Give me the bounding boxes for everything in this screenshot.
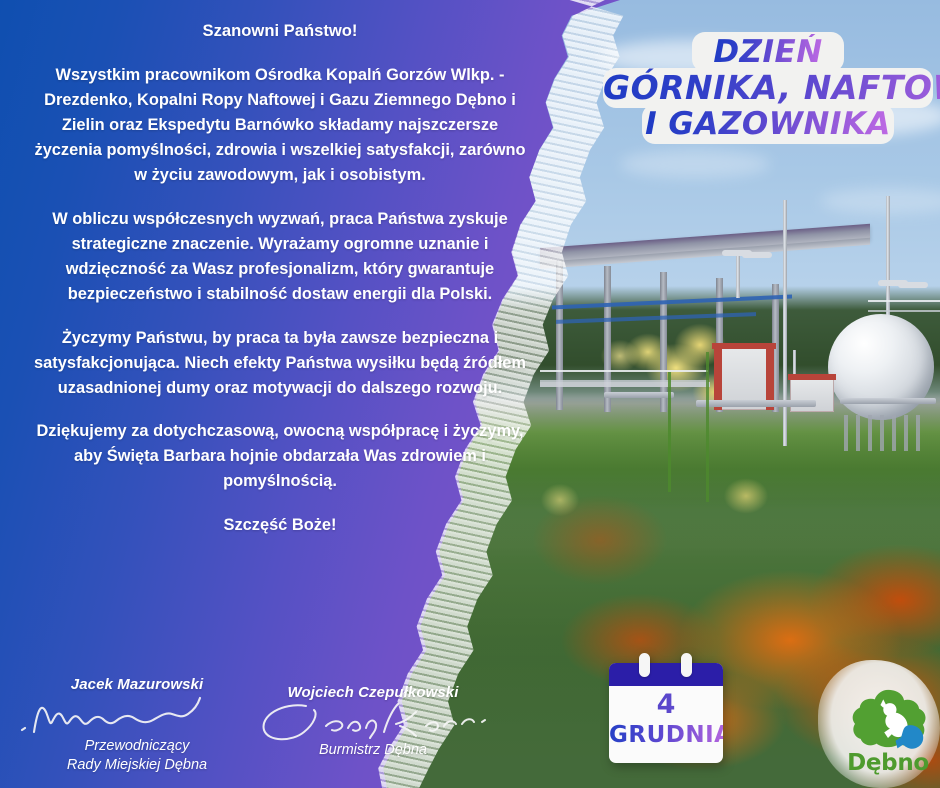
platform-railing [540, 370, 708, 382]
signature-block: Jacek Mazurowski Przewodniczący Rady Mie… [0, 672, 530, 788]
tank-support-legs [836, 415, 928, 451]
title-line-1: DZIEŃ [692, 32, 844, 72]
lamp-head [742, 252, 772, 258]
letter-paragraph: Życzymy Państwu, by praca ta była zawsze… [30, 326, 530, 401]
signature-chairman: Jacek Mazurowski Przewodniczący Rady Mie… [12, 676, 262, 775]
light-mast [736, 252, 740, 298]
canopy-platform [540, 382, 710, 387]
logo-wordmark: Dębno [842, 750, 934, 776]
cloud-shape [620, 150, 770, 178]
event-title-badge: DZIEŃ GÓRNIKA, NAFTOWCA I GAZOWNIKA [596, 32, 940, 144]
tank-label-product: ROPA NAFTOWA [828, 352, 940, 361]
letter-closing: Szczęść Boże! [30, 513, 530, 538]
signature-role-line-1: Burmistrz Dębna [248, 741, 498, 760]
oak-leaf-icon [842, 688, 934, 754]
site-building-roof [712, 343, 776, 349]
flower-stem [668, 372, 671, 492]
debno-logo[interactable]: Dębno [842, 688, 934, 780]
letter-paragraph: Wszystkim pracownikom Ośrodka Kopalń Gor… [30, 63, 530, 188]
canopy-column [660, 272, 667, 412]
cloud-shape [820, 188, 940, 214]
flower-stem [706, 352, 709, 502]
letter-paragraph: W obliczu współczesnych wyzwań, praca Pa… [30, 207, 530, 307]
calendar-icon: 4 GRUDNIA [609, 653, 723, 763]
canopy-blue-beam [556, 312, 756, 324]
signature-mayor: Wojciech Czepułkowski Burmistrz Dębna [248, 684, 498, 760]
lamp-head [898, 282, 928, 288]
tank-label-number: 3 [828, 336, 940, 351]
canopy-column [604, 266, 611, 412]
signature-role-line-1: Przewodniczący [12, 737, 262, 756]
signature-name: Jacek Mazurowski [12, 676, 262, 693]
site-pipe [840, 398, 936, 404]
poster-root: 3 ROPA NAFTOWA V 100 m Szanowni Państwo!… [0, 0, 940, 788]
calendar-ring-icon [681, 653, 692, 677]
tank-access-platform [868, 300, 940, 312]
title-line-2-text: GÓRNIKA, NAFTOWCA [603, 68, 940, 107]
tank-label-volume: V 100 m [828, 370, 940, 382]
signature-role-line-2: Rady Miejskiej Dębna [12, 756, 262, 775]
calendar-header-bar [609, 663, 723, 686]
handwritten-signature-icon [12, 692, 262, 738]
title-line-2: GÓRNIKA, NAFTOWCA [603, 68, 933, 108]
light-mast [783, 200, 787, 446]
title-line-3: I GAZOWNIKA [642, 104, 894, 144]
calendar-month-name: GRUDNIA [609, 722, 723, 748]
signature-name: Wojciech Czepułkowski [248, 684, 498, 701]
calendar-day-number: 4 [609, 689, 723, 720]
handwritten-signature-icon [248, 698, 498, 744]
canopy-blue-beam [552, 295, 792, 310]
site-building-roof [788, 374, 836, 380]
letter-greeting: Szanowni Państwo! [30, 18, 530, 43]
title-line-3-text: I GAZOWNIKA [645, 106, 891, 142]
letter-text: Szanowni Państwo! Wszystkim pracownikom … [0, 0, 560, 538]
site-pipe [604, 392, 674, 398]
calendar-ring-icon [639, 653, 650, 677]
title-line-1-text: DZIEŃ [713, 34, 822, 70]
site-pipe [696, 400, 816, 407]
spherical-gas-tank [828, 314, 934, 420]
letter-paragraph: Dziękujemy za dotychczasową, owocną wspó… [30, 419, 530, 494]
